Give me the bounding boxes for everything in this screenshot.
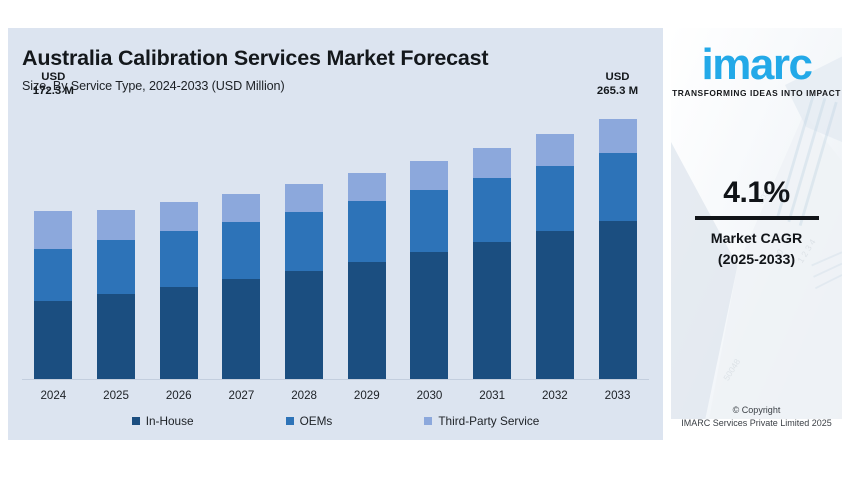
stacked-bar[interactable] xyxy=(599,119,637,380)
bar-segment[interactable] xyxy=(160,202,198,231)
cagr-divider xyxy=(695,216,819,220)
legend-label: OEMs xyxy=(300,414,333,428)
legend-label: Third-Party Service xyxy=(438,414,539,428)
bar-segment[interactable] xyxy=(410,252,448,380)
bar-segment[interactable] xyxy=(160,287,198,380)
bar-segment[interactable] xyxy=(599,153,637,221)
bar-group[interactable]: USD265.3 M xyxy=(589,105,647,380)
bar-group[interactable] xyxy=(213,105,271,380)
cagr-label: Market CAGR xyxy=(671,229,842,250)
x-axis-line xyxy=(22,379,649,380)
bar-value-annotation: USD172.3 M xyxy=(33,71,74,98)
copyright-notice: © Copyright IMARC Services Private Limit… xyxy=(671,404,842,430)
cagr-period: (2025-2033) xyxy=(671,250,842,271)
bar-segment[interactable] xyxy=(222,222,260,279)
bar-group[interactable] xyxy=(275,105,333,380)
bar-segment[interactable] xyxy=(473,178,511,242)
bar-segment[interactable] xyxy=(285,271,323,380)
bar-segment[interactable] xyxy=(473,148,511,178)
legend-item[interactable]: In-House xyxy=(132,414,194,428)
bar-segment[interactable] xyxy=(536,134,574,165)
bar-segment[interactable] xyxy=(160,231,198,287)
stacked-bar[interactable] xyxy=(34,211,72,380)
legend-swatch-icon xyxy=(132,417,140,425)
bar-group[interactable] xyxy=(401,105,459,380)
brand-panel: 50310 0.0 1 2 3 4 50048 imarc TRANSFORMI… xyxy=(671,28,842,440)
bar-group[interactable] xyxy=(338,105,396,380)
x-axis-tick-label: 2032 xyxy=(526,389,584,402)
svg-text:50048: 50048 xyxy=(721,357,742,383)
stacked-bar[interactable] xyxy=(222,194,260,380)
imarc-tagline: TRANSFORMING IDEAS INTO IMPACT xyxy=(672,88,841,98)
bar-segment[interactable] xyxy=(285,212,323,271)
bar-segment[interactable] xyxy=(473,242,511,380)
bar-group[interactable] xyxy=(87,105,145,380)
x-axis-tick-label: 2028 xyxy=(275,389,333,402)
bar-segment[interactable] xyxy=(34,211,72,249)
imarc-logo: imarc TRANSFORMING IDEAS INTO IMPACT xyxy=(672,44,841,98)
bar-group[interactable] xyxy=(150,105,208,380)
bar-segment[interactable] xyxy=(348,173,386,201)
x-axis-tick-label: 2024 xyxy=(25,389,83,402)
stacked-bar[interactable] xyxy=(536,134,574,380)
imarc-wordmark: imarc xyxy=(672,44,841,86)
x-axis-tick-label: 2025 xyxy=(87,389,145,402)
bar-value-annotation: USD265.3 M xyxy=(597,71,638,98)
stacked-bar[interactable] xyxy=(410,161,448,380)
bar-segment[interactable] xyxy=(599,221,637,381)
stacked-bar[interactable] xyxy=(160,202,198,380)
bar-segment[interactable] xyxy=(97,210,135,240)
stacked-bar[interactable] xyxy=(285,184,323,380)
x-axis-labels: 2024202520262027202820292030203120322033 xyxy=(22,389,649,402)
stacked-bar[interactable] xyxy=(348,173,386,380)
stacked-bar[interactable] xyxy=(97,210,135,380)
bar-segment[interactable] xyxy=(34,301,72,380)
legend-swatch-icon xyxy=(424,417,432,425)
legend-label: In-House xyxy=(146,414,194,428)
bar-segment[interactable] xyxy=(34,249,72,301)
chart-panel: Australia Calibration Services Market Fo… xyxy=(8,28,663,440)
cagr-value: 4.1% xyxy=(671,176,842,210)
chart-subtitle: Size, By Service Type, 2024-2033 (USD Mi… xyxy=(22,79,649,93)
bar-segment[interactable] xyxy=(222,194,260,222)
x-axis-tick-label: 2027 xyxy=(213,389,271,402)
stacked-bar[interactable] xyxy=(473,148,511,380)
bar-segment[interactable] xyxy=(410,161,448,189)
bar-segment[interactable] xyxy=(536,231,574,380)
bar-segment[interactable] xyxy=(285,184,323,212)
legend-item[interactable]: OEMs xyxy=(286,414,333,428)
page-title: Australia Calibration Services Market Fo… xyxy=(22,46,649,71)
bar-group[interactable] xyxy=(463,105,521,380)
bar-segment[interactable] xyxy=(97,294,135,380)
x-axis-tick-label: 2029 xyxy=(338,389,396,402)
bar-series-container: USD172.3 MUSD265.3 M xyxy=(22,105,649,380)
bar-segment[interactable] xyxy=(599,119,637,152)
bar-segment[interactable] xyxy=(222,279,260,380)
infographic-root: Australia Calibration Services Market Fo… xyxy=(0,0,850,478)
x-axis-tick-label: 2030 xyxy=(401,389,459,402)
copyright-line-1: © Copyright xyxy=(671,404,842,417)
bar-segment[interactable] xyxy=(97,240,135,294)
cagr-block: 4.1% Market CAGR (2025-2033) xyxy=(671,176,842,272)
x-axis-tick-label: 2026 xyxy=(150,389,208,402)
chart-legend: In-HouseOEMsThird-Party Service xyxy=(22,404,649,440)
x-axis-tick-label: 2033 xyxy=(589,389,647,402)
legend-item[interactable]: Third-Party Service xyxy=(424,414,539,428)
plot-area: USD172.3 MUSD265.3 M 2024202520262027202… xyxy=(22,101,649,404)
bar-segment[interactable] xyxy=(348,262,386,380)
bar-group[interactable] xyxy=(526,105,584,380)
bar-group[interactable]: USD172.3 M xyxy=(25,105,83,380)
bar-segment[interactable] xyxy=(410,190,448,252)
bar-segment[interactable] xyxy=(348,201,386,262)
copyright-line-2: IMARC Services Private Limited 2025 xyxy=(671,417,842,430)
x-axis-tick-label: 2031 xyxy=(463,389,521,402)
bar-segment[interactable] xyxy=(536,166,574,232)
legend-swatch-icon xyxy=(286,417,294,425)
